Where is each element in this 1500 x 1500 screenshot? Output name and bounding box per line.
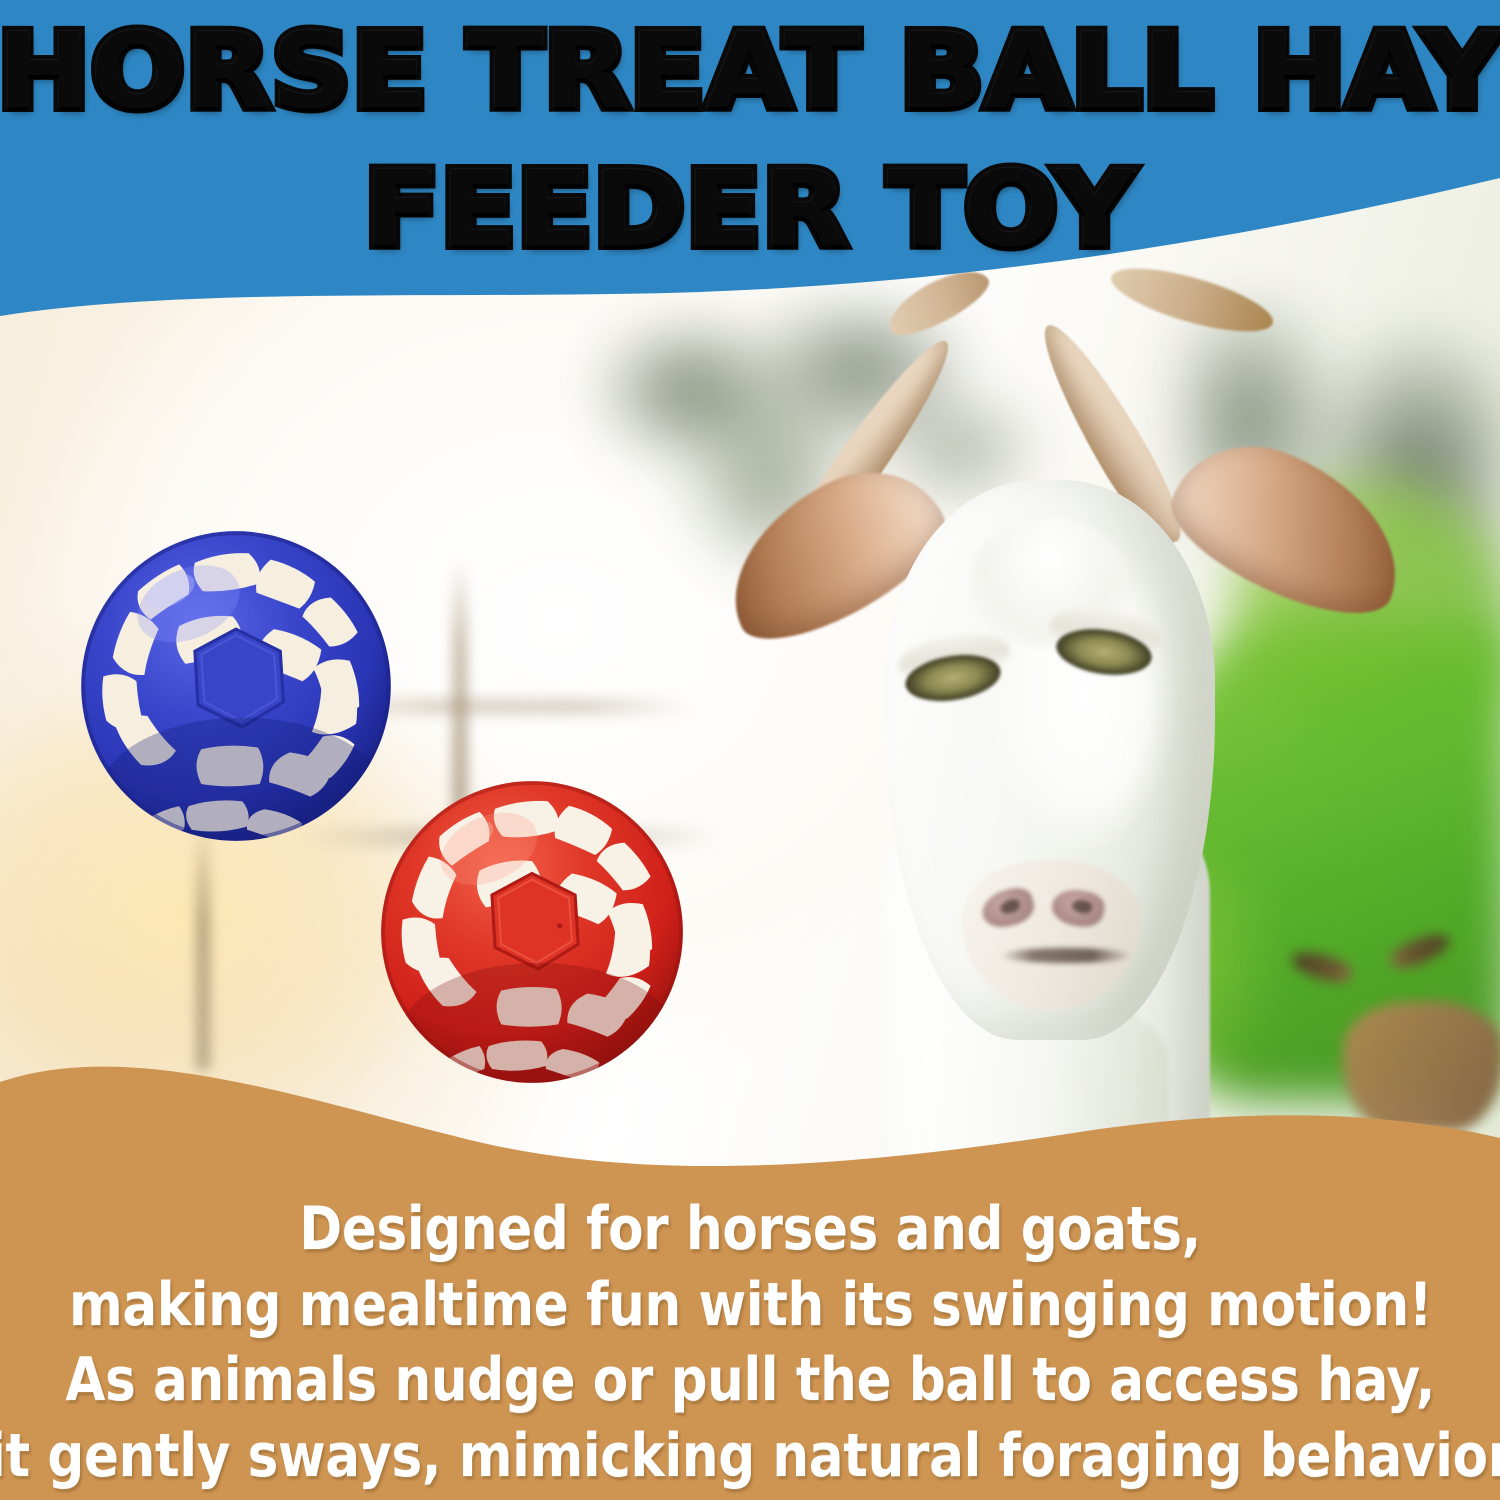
- description-line-2: making mealtime fun with its swinging mo…: [68, 1268, 1431, 1344]
- title-line-1: HORSE TREAT BALL HAY: [0, 22, 1500, 122]
- footer-description-block: Designed for horses and goats, making me…: [0, 1170, 1500, 1500]
- header-banner: HORSE TREAT BALL HAY FEEDER TOY: [0, 0, 1500, 330]
- footer-band: Designed for horses and goats, making me…: [0, 1020, 1500, 1500]
- description-line-4: it gently sways, mimicking natural forag…: [0, 1419, 1500, 1495]
- product-listing-image: HORSE TREAT BALL HAY FEEDER TOY Designed…: [0, 0, 1500, 1500]
- title-line-2: FEEDER TOY: [364, 160, 1135, 260]
- goat-mouth: [1000, 948, 1132, 963]
- description-line-3: As animals nudge or pull the ball to acc…: [65, 1343, 1435, 1419]
- header-title-block: HORSE TREAT BALL HAY FEEDER TOY: [0, 0, 1500, 330]
- description-line-1: Designed for horses and goats,: [299, 1192, 1200, 1268]
- blue-hay-feeder-ball: [78, 528, 394, 844]
